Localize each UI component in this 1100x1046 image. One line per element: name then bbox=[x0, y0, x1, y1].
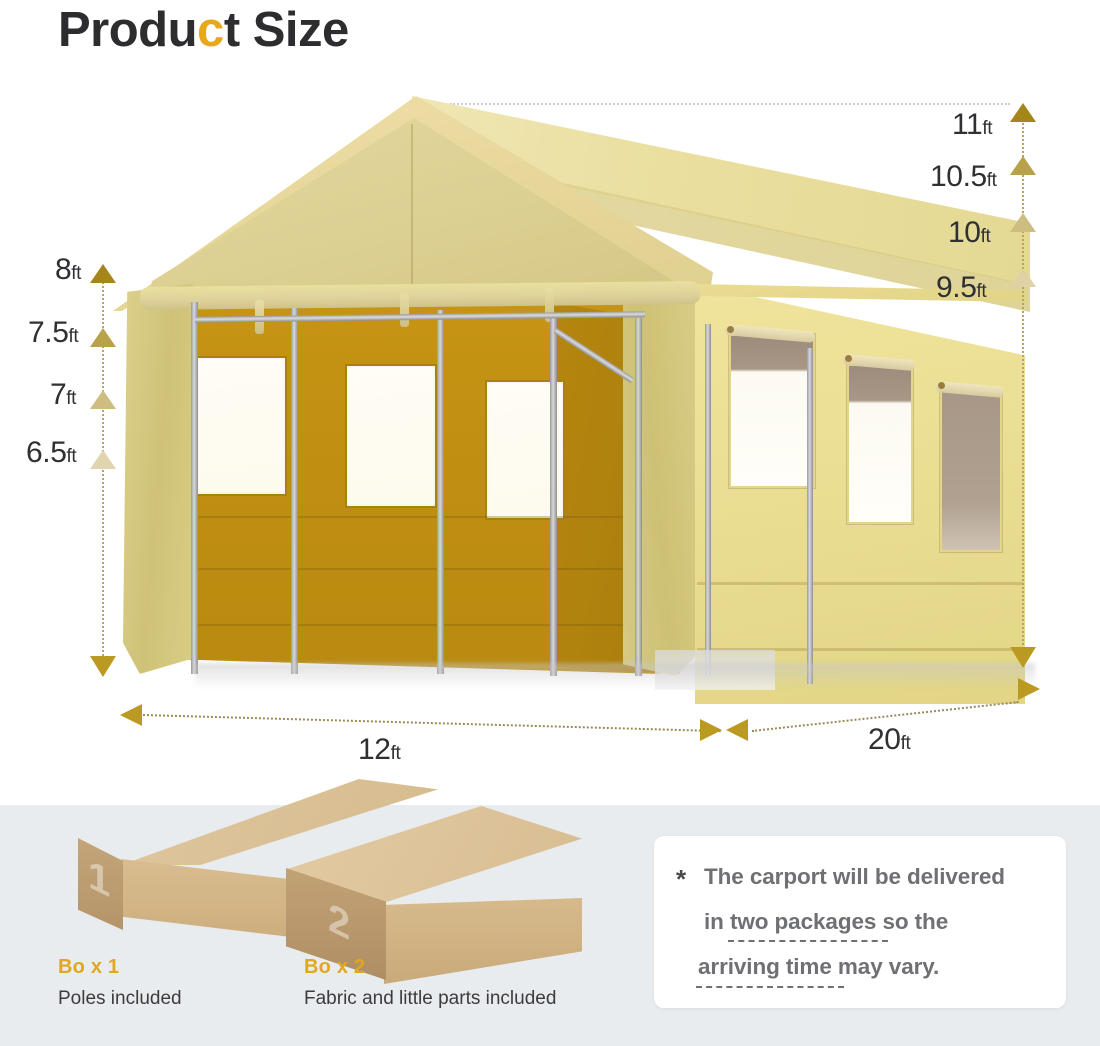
length-arrow-left bbox=[726, 719, 748, 741]
page-title: Product Size bbox=[58, 2, 349, 58]
note-line-2: in two packages so the bbox=[704, 909, 948, 935]
sidewall-label-7ft: 7ft bbox=[50, 378, 76, 412]
length-arrow-right bbox=[1018, 678, 1040, 700]
delivery-note-card: * The carport will be delivered in two p… bbox=[654, 836, 1066, 1008]
note-line-3: arriving time may vary. bbox=[698, 954, 939, 980]
box-2-front-face bbox=[384, 898, 582, 984]
frame-pole-mid-3 bbox=[550, 314, 557, 676]
interior-seam-h2 bbox=[165, 568, 655, 570]
peak-label-11ft: 11ft bbox=[952, 108, 992, 142]
product-size-infographic: Product Size bbox=[0, 0, 1100, 1046]
title-prefix: Produ bbox=[58, 3, 197, 57]
peak-label-10_5ft: 10.5ft bbox=[930, 160, 997, 194]
side-window-2-knob bbox=[845, 355, 852, 362]
title-highlight-letter: c bbox=[197, 3, 224, 57]
side-window-3-knob bbox=[938, 382, 945, 389]
frame-pole-mid-2 bbox=[437, 310, 444, 674]
frame-pole-right-front bbox=[635, 318, 642, 676]
peak-label-9_5ft: 9.5ft bbox=[936, 271, 986, 305]
note-bullet-asterisk: * bbox=[676, 866, 686, 892]
fabric-tie-2 bbox=[400, 293, 409, 327]
interior-window-2 bbox=[345, 364, 437, 508]
peak-arrow-11ft bbox=[1010, 103, 1036, 122]
peak-scale-bottom-arrow bbox=[1010, 647, 1036, 668]
width-label-12ft: 12ft bbox=[358, 733, 400, 767]
interior-seam-h3 bbox=[165, 624, 655, 626]
ground-shadow bbox=[195, 663, 1035, 689]
sidewall-arrow-8ft bbox=[90, 264, 116, 283]
frame-pole-mid-1 bbox=[291, 308, 298, 674]
carport-illustration bbox=[95, 88, 1035, 698]
peak-arrow-9_5ft bbox=[1010, 268, 1036, 287]
box-2-caption: Fabric and little parts included bbox=[304, 988, 556, 1010]
note-line-3-underline bbox=[696, 986, 844, 988]
sidewall-arrow-6_5ft bbox=[90, 450, 116, 469]
box-1-title: Bo x 1 bbox=[58, 956, 119, 979]
title-suffix: t Size bbox=[224, 3, 349, 57]
note-line-2-underline bbox=[728, 940, 888, 942]
sidewall-label-8ft: 8ft bbox=[55, 253, 81, 287]
sidewall-arrow-7_5ft bbox=[90, 328, 116, 347]
peak-arrow-10_5ft bbox=[1010, 156, 1036, 175]
sidewall-label-6_5ft: 6.5ft bbox=[26, 436, 76, 470]
front-left-flap bbox=[123, 284, 193, 674]
box-1-caption: Poles included bbox=[58, 988, 182, 1010]
box-1-front-face bbox=[121, 859, 291, 937]
box-2-title: Bo x 2 bbox=[304, 956, 365, 979]
gable-seam bbox=[411, 124, 413, 302]
sidewall-scale-bottom-arrow bbox=[90, 656, 116, 677]
interior-seam-h1 bbox=[165, 516, 655, 518]
frame-pole-side-1 bbox=[705, 324, 711, 676]
width-arrow-right bbox=[700, 719, 722, 741]
peak-scale-line bbox=[1022, 108, 1024, 656]
note-line-1: The carport will be delivered bbox=[704, 864, 1005, 890]
width-arrow-left bbox=[120, 704, 142, 726]
interior-window-1 bbox=[195, 356, 287, 496]
sidewall-label-7_5ft: 7.5ft bbox=[28, 316, 78, 350]
frame-pole-left-front bbox=[191, 302, 198, 674]
peak-label-10ft: 10ft bbox=[948, 216, 990, 250]
width-dimension-line bbox=[143, 714, 721, 732]
sidewall-arrow-7ft bbox=[90, 390, 116, 409]
side-window-1-knob bbox=[727, 326, 734, 333]
frame-pole-side-2 bbox=[807, 348, 813, 684]
side-window-1 bbox=[729, 334, 815, 488]
side-window-2 bbox=[847, 364, 913, 524]
peak-arrow-10ft bbox=[1010, 213, 1036, 232]
carport-diagram: 11ft 10.5ft 10ft 9.5ft 8ft 7.5ft 7ft 6.5… bbox=[0, 78, 1100, 805]
side-wall-band-1 bbox=[697, 582, 1023, 585]
length-label-20ft: 20ft bbox=[868, 723, 910, 757]
side-window-3 bbox=[940, 390, 1002, 552]
